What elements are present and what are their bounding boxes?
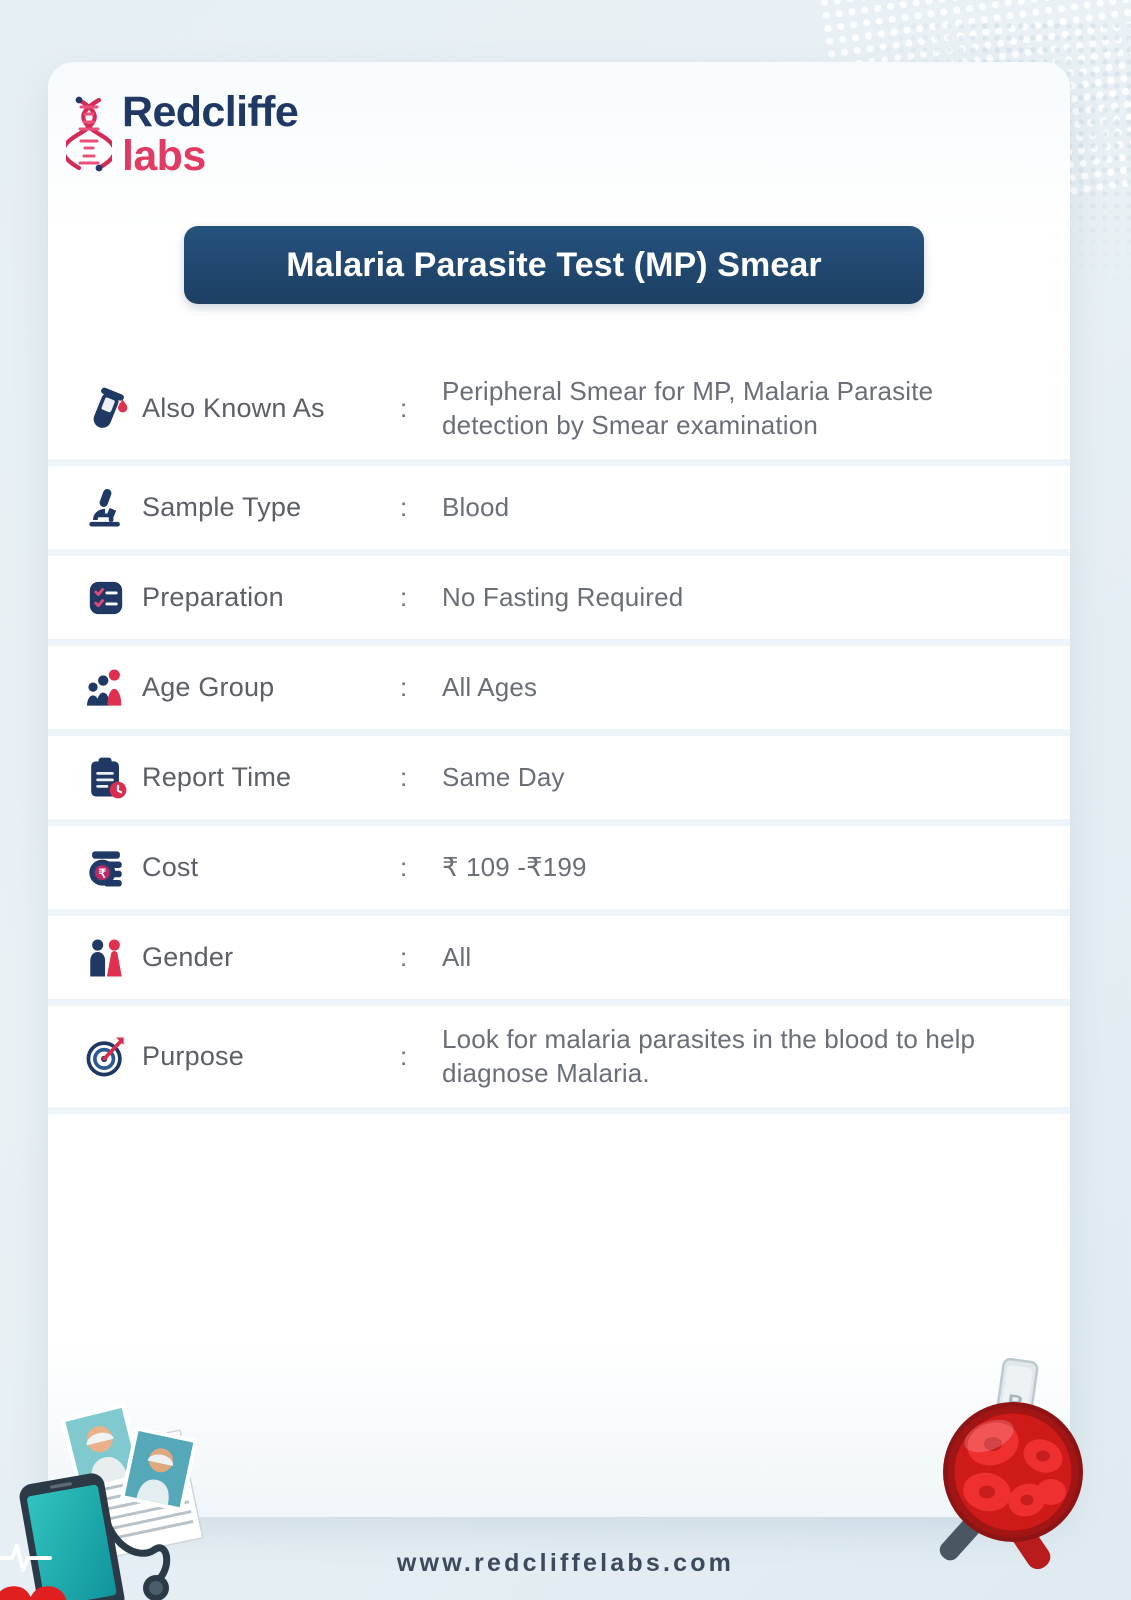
- footer-website-url[interactable]: www.redcliffelabs.com: [0, 1549, 1131, 1578]
- test-details-list: Also Known As : Peripheral Smear for MP,…: [48, 358, 1070, 1114]
- table-row: Gender : All: [48, 916, 1070, 1006]
- row-label: Age Group: [142, 672, 400, 703]
- row-value: All Ages: [442, 671, 1048, 705]
- table-row: Report Time : Same Day: [48, 736, 1070, 826]
- row-label: Purpose: [142, 1041, 400, 1072]
- brand-logo: Redcliffe labs: [66, 92, 298, 177]
- row-label: Report Time: [142, 762, 400, 793]
- row-label: Gender: [142, 942, 400, 973]
- table-row: Also Known As : Peripheral Smear for MP,…: [48, 358, 1070, 466]
- row-colon: :: [400, 762, 442, 793]
- table-row: Preparation : No Fasting Required: [48, 556, 1070, 646]
- svg-text:₹: ₹: [98, 866, 106, 880]
- row-value: ₹ 109 -₹199: [442, 851, 1048, 885]
- table-row: Purpose : Look for malaria parasites in …: [48, 1006, 1070, 1114]
- target-dart-icon: [70, 1032, 142, 1082]
- table-row: ₹ Cost : ₹ 109 -₹199: [48, 826, 1070, 916]
- table-row: Sample Type : Blood: [48, 466, 1070, 556]
- rupee-coins-icon: ₹: [70, 843, 142, 893]
- row-value: Look for malaria parasites in the blood …: [442, 1023, 1048, 1091]
- row-value: Peripheral Smear for MP, Malaria Parasit…: [442, 375, 1048, 443]
- microscope-icon: [70, 483, 142, 533]
- row-colon: :: [400, 942, 442, 973]
- row-colon: :: [400, 492, 442, 523]
- dna-helix-icon: [66, 96, 112, 174]
- checklist-icon: [70, 575, 142, 621]
- brand-name-primary: Redcliffe: [122, 92, 298, 134]
- row-label: Sample Type: [142, 492, 400, 523]
- row-colon: :: [400, 582, 442, 613]
- row-value: Same Day: [442, 761, 1048, 795]
- test-info-card: Redcliffe labs Malaria Parasite Test (MP…: [48, 62, 1070, 1517]
- row-label: Preparation: [142, 582, 400, 613]
- row-label: Also Known As: [142, 393, 400, 424]
- row-colon: :: [400, 1041, 442, 1072]
- row-value: No Fasting Required: [442, 581, 1048, 615]
- row-value: All: [442, 941, 1048, 975]
- row-colon: :: [400, 393, 442, 424]
- male-female-icon: [70, 933, 142, 983]
- row-colon: :: [400, 672, 442, 703]
- brand-name-secondary: labs: [122, 136, 298, 178]
- clipboard-clock-icon: [70, 753, 142, 803]
- test-tube-blood-drop-icon: [70, 384, 142, 434]
- row-value: Blood: [442, 491, 1048, 525]
- page-title-banner: Malaria Parasite Test (MP) Smear: [184, 226, 924, 304]
- family-people-icon: [70, 663, 142, 713]
- row-colon: :: [400, 852, 442, 883]
- row-label: Cost: [142, 852, 400, 883]
- table-row: Age Group : All Ages: [48, 646, 1070, 736]
- page-title: Malaria Parasite Test (MP) Smear: [286, 246, 821, 285]
